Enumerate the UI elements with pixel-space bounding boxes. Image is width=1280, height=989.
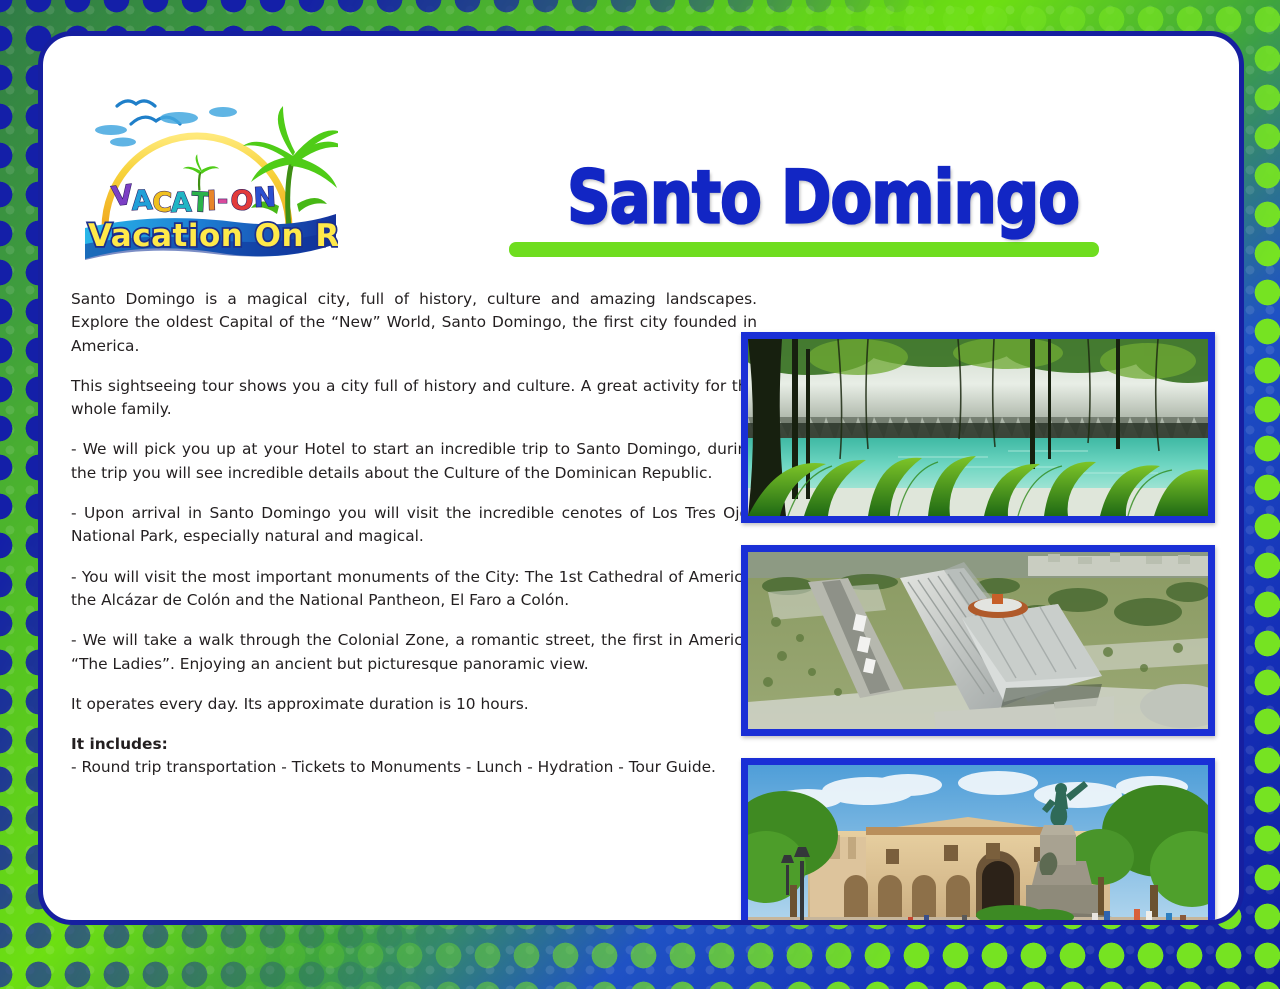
page-title-block: Santo Domingo	[473, 154, 1173, 272]
svg-text:O: O	[230, 185, 255, 217]
paragraph-pickup: - We will pick you up at your Hotel to s…	[71, 438, 757, 485]
photo-faro-a-colon-image	[748, 552, 1208, 729]
photo-gallery	[741, 332, 1215, 925]
paragraph-monuments: - You will visit the most important monu…	[71, 566, 757, 613]
flyer-body: Santo Domingo is a magical city, full of…	[43, 274, 1239, 925]
svg-text:A: A	[131, 185, 154, 217]
paragraph-intro: Santo Domingo is a magical city, full of…	[71, 288, 757, 358]
paragraph-colonial-zone: - We will take a walk through the Coloni…	[71, 629, 757, 676]
paragraph-sightseeing: This sightseeing tour shows you a city f…	[71, 375, 757, 422]
flyer-background: V A C A T I - O N	[0, 0, 1280, 989]
includes-heading: It includes:	[71, 733, 757, 756]
photo-tres-ojos-cenote	[741, 332, 1215, 523]
photo-faro-a-colon	[741, 545, 1215, 736]
vacation-on-rd-logo: V A C A T I - O N	[83, 78, 338, 268]
svg-text:-: -	[217, 185, 228, 216]
svg-text:Vacation On RD: Vacation On RD	[88, 218, 338, 254]
photo-parque-colon-cathedral-image	[748, 765, 1208, 925]
tour-description: Santo Domingo is a magical city, full of…	[71, 288, 757, 797]
title-underline-bar	[509, 242, 1099, 257]
page-title: Santo Domingo	[480, 154, 1166, 240]
svg-text:A: A	[170, 187, 192, 219]
photo-parque-colon-cathedral	[741, 758, 1215, 925]
includes-heading-text: It includes:	[71, 735, 168, 753]
flyer-card: V A C A T I - O N	[38, 31, 1244, 925]
photo-tres-ojos-cenote-image	[748, 339, 1208, 516]
paragraph-tres-ojos: - Upon arrival in Santo Domingo you will…	[71, 502, 757, 549]
paragraph-schedule: It operates every day. Its approximate d…	[71, 693, 757, 716]
svg-text:I: I	[206, 186, 217, 217]
includes-list: - Round trip transportation - Tickets to…	[71, 756, 757, 779]
svg-text:N: N	[253, 182, 277, 214]
flyer-header: V A C A T I - O N	[43, 36, 1239, 274]
